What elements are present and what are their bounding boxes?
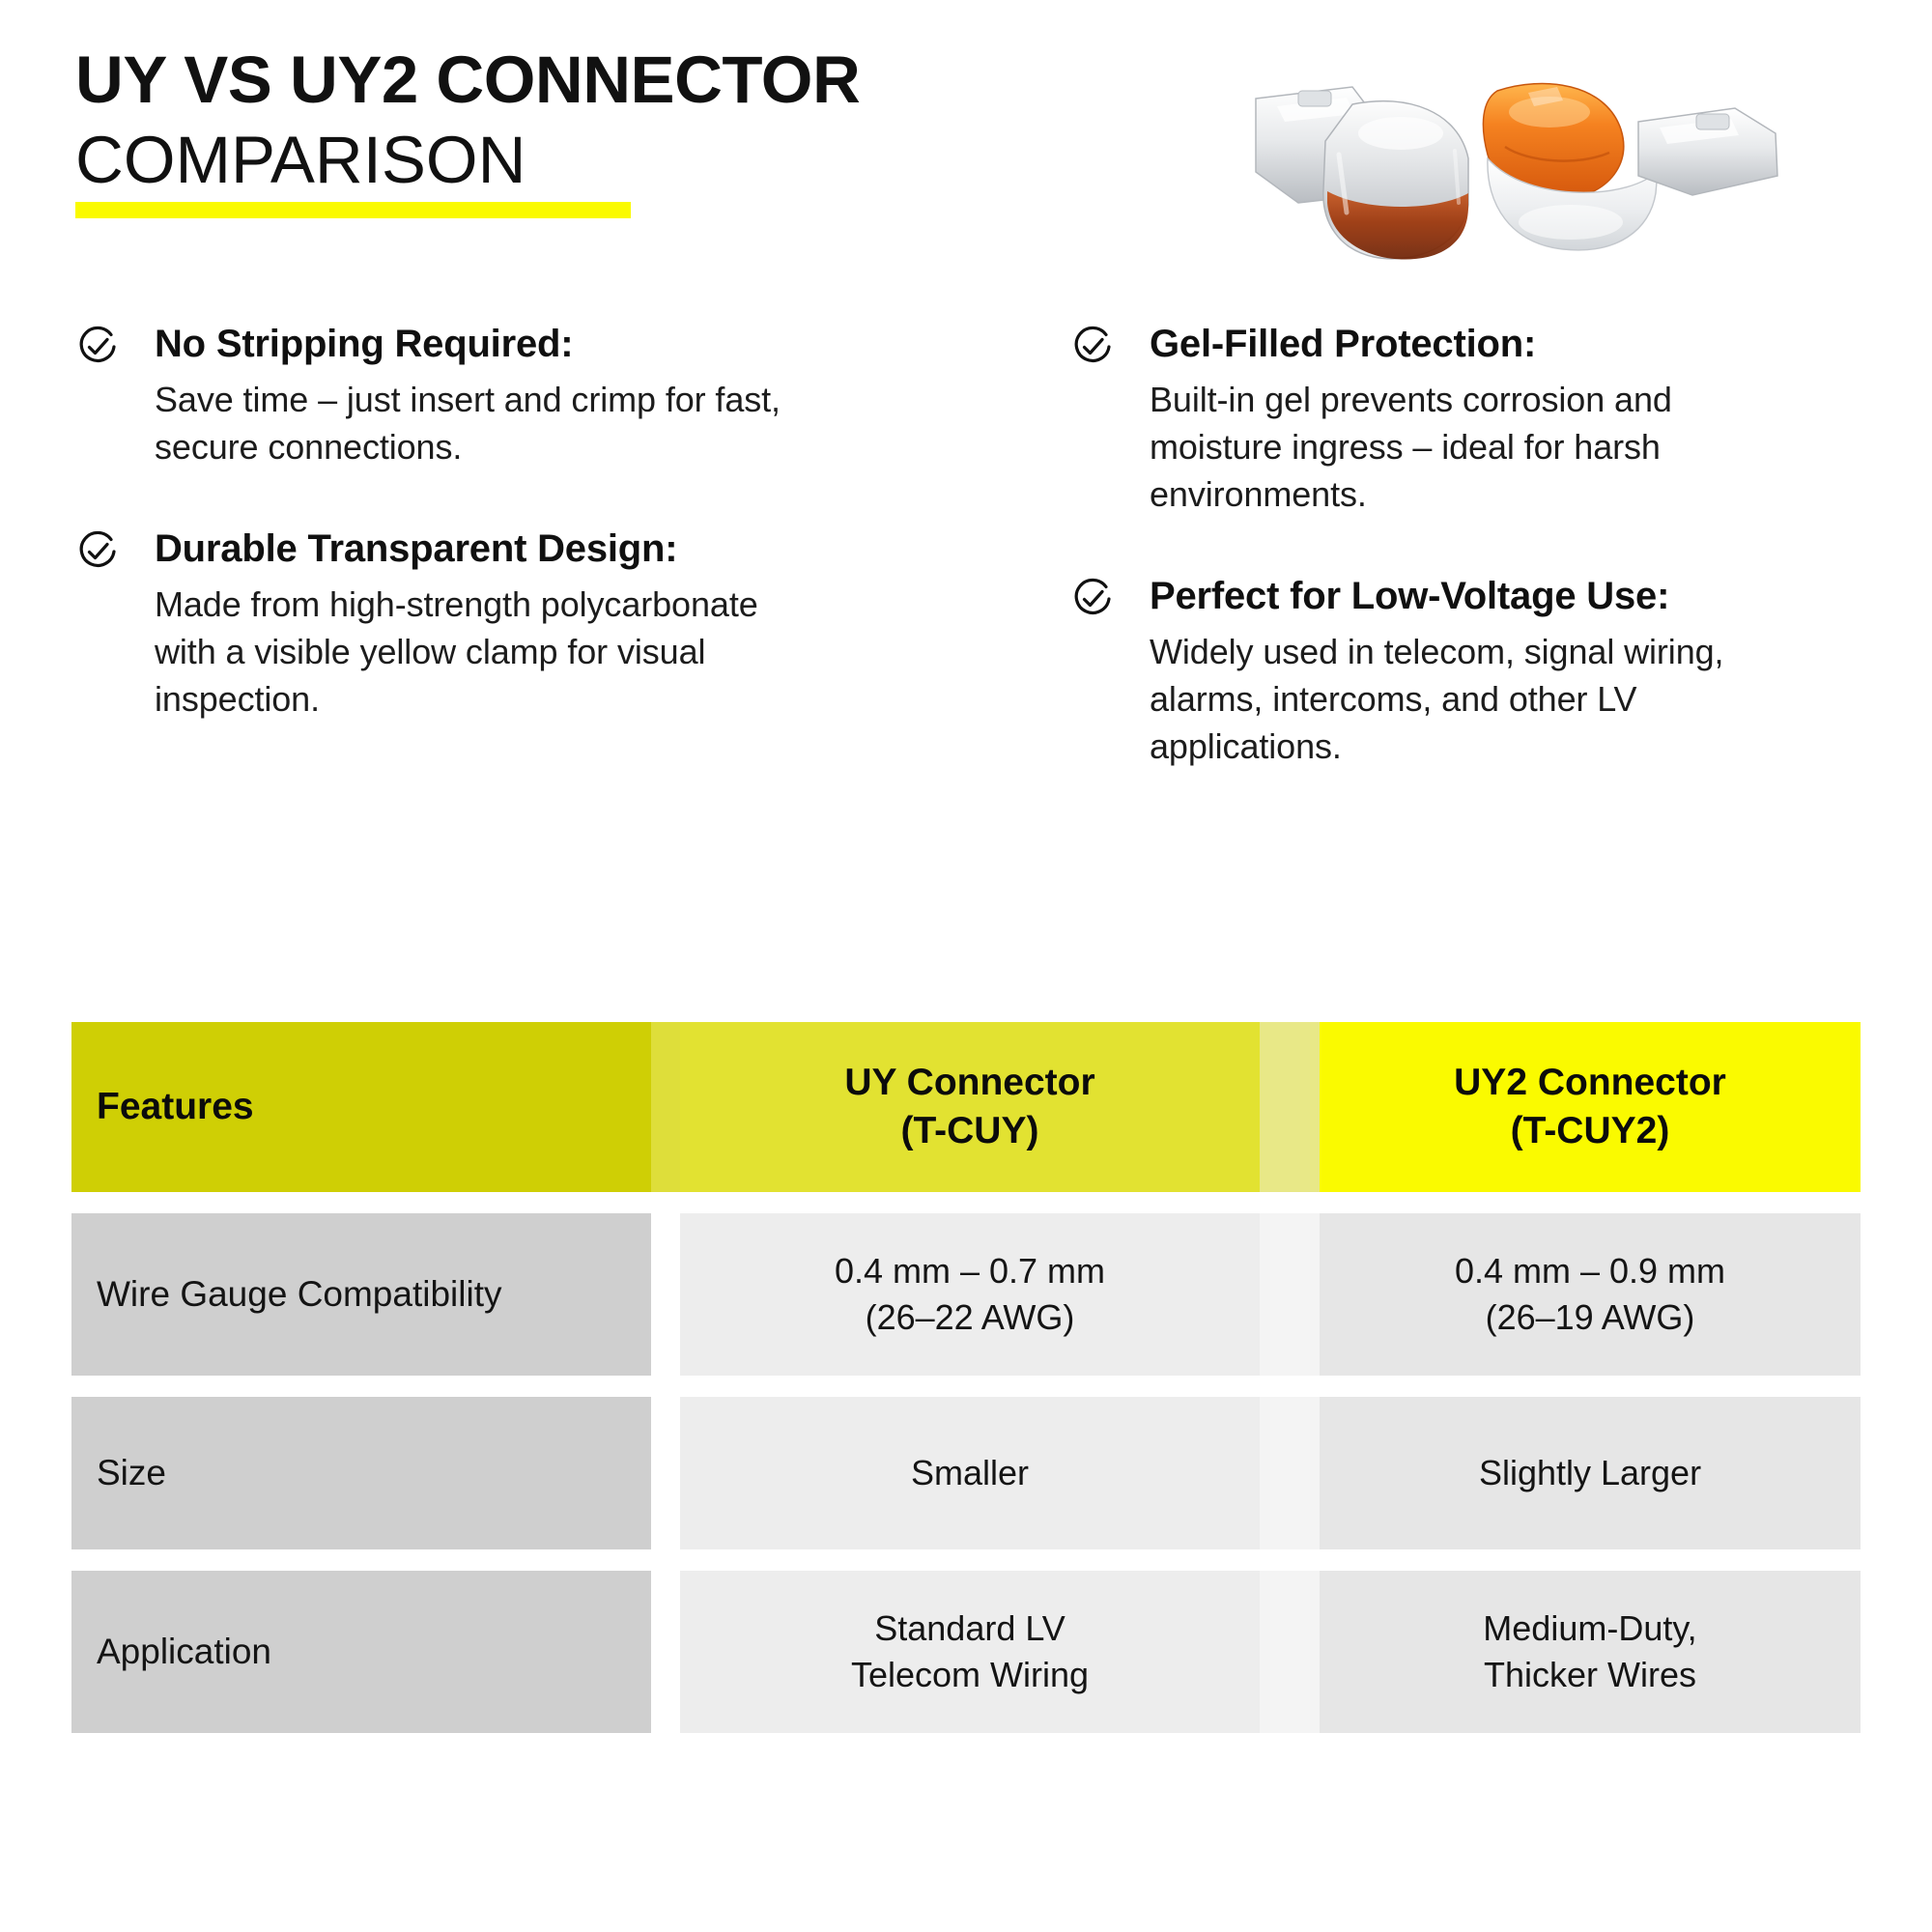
check-circle-icon [1070, 325, 1115, 369]
check-circle-icon [75, 529, 120, 574]
check-circle-icon [1070, 577, 1115, 621]
comparison-table: Features UY Connector(T-CUY) UY2 Connect… [71, 1022, 1861, 1733]
table-row: Size Smaller Slightly Larger [71, 1397, 1861, 1549]
table-gap-2 [1260, 1571, 1320, 1733]
table-gap-1 [651, 1213, 680, 1376]
check-circle-icon [75, 325, 120, 369]
infographic-page: UY VS UY2 CONNECTOR COMPARISON [0, 0, 1932, 1932]
table-cell-feature: Application [71, 1571, 651, 1733]
table-cell-feature-text: Application [97, 1629, 271, 1675]
table-gap-2 [1260, 1213, 1320, 1376]
table-header-uy-label: UY Connector(T-CUY) [844, 1059, 1094, 1155]
connectors-illustration [1238, 58, 1876, 299]
table-cell-uy: Smaller [680, 1397, 1260, 1549]
feature-item: Gel-Filled Protection: Built-in gel prev… [1070, 319, 1804, 519]
table-header-features: Features [71, 1022, 651, 1192]
table-cell-uy: Standard LVTelecom Wiring [680, 1571, 1260, 1733]
feature-item: No Stripping Required: Save time – just … [75, 319, 810, 471]
table-header-uy2: UY2 Connector(T-CUY2) [1320, 1022, 1861, 1192]
table-cell-feature: Wire Gauge Compatibility [71, 1213, 651, 1376]
title-accent-underline [75, 202, 631, 218]
table-header-uy: UY Connector(T-CUY) [680, 1022, 1260, 1192]
table-cell-feature-text: Size [97, 1450, 166, 1496]
uy-connector-photo [1256, 87, 1468, 260]
table-cell-uy-text: 0.4 mm – 0.7 mm(26–22 AWG) [835, 1248, 1105, 1340]
table-cell-feature: Size [71, 1397, 651, 1549]
feature-heading: Perfect for Low-Voltage Use: [1150, 571, 1804, 621]
table-cell-uy-text: Standard LVTelecom Wiring [851, 1605, 1089, 1697]
table-cell-uy-text: Smaller [911, 1450, 1029, 1496]
table-header-gap-1 [651, 1022, 680, 1192]
table-row: Application Standard LVTelecom Wiring Me… [71, 1571, 1861, 1733]
table-cell-feature-text: Wire Gauge Compatibility [97, 1271, 501, 1318]
features-column-right: Gel-Filled Protection: Built-in gel prev… [1070, 319, 1804, 823]
feature-heading: Durable Transparent Design: [155, 524, 810, 574]
feature-body: Made from high-strength polycarbonate wi… [155, 582, 810, 724]
feature-heading: No Stripping Required: [155, 319, 810, 369]
uy2-connector-photo [1483, 84, 1777, 250]
table-header-uy2-label: UY2 Connector(T-CUY2) [1454, 1059, 1726, 1155]
feature-body: Widely used in telecom, signal wiring, a… [1150, 629, 1804, 771]
table-cell-uy2: Medium-Duty,Thicker Wires [1320, 1571, 1861, 1733]
table-cell-uy2-text: Slightly Larger [1479, 1450, 1701, 1496]
table-header-row: Features UY Connector(T-CUY) UY2 Connect… [71, 1022, 1861, 1192]
feature-item: Durable Transparent Design: Made from hi… [75, 524, 810, 724]
table-cell-uy2-text: Medium-Duty,Thicker Wires [1483, 1605, 1696, 1697]
features-column-left: No Stripping Required: Save time – just … [75, 319, 810, 776]
table-row: Wire Gauge Compatibility 0.4 mm – 0.7 mm… [71, 1213, 1861, 1376]
product-photo [1238, 58, 1876, 299]
page-title-primary: UY VS UY2 CONNECTOR [75, 46, 1157, 114]
table-header-features-label: Features [97, 1086, 254, 1128]
table-cell-uy2: Slightly Larger [1320, 1397, 1861, 1549]
table-gap-1 [651, 1397, 680, 1549]
page-header: UY VS UY2 CONNECTOR COMPARISON [75, 46, 1157, 218]
table-cell-uy2: 0.4 mm – 0.9 mm(26–19 AWG) [1320, 1213, 1861, 1376]
feature-body: Save time – just insert and crimp for fa… [155, 377, 810, 471]
feature-item: Perfect for Low-Voltage Use: Widely used… [1070, 571, 1804, 771]
table-header-gap-2 [1260, 1022, 1320, 1192]
table-cell-uy2-text: 0.4 mm – 0.9 mm(26–19 AWG) [1455, 1248, 1725, 1340]
table-gap-1 [651, 1571, 680, 1733]
feature-heading: Gel-Filled Protection: [1150, 319, 1804, 369]
page-title-secondary: COMPARISON [75, 126, 1157, 195]
table-cell-uy: 0.4 mm – 0.7 mm(26–22 AWG) [680, 1213, 1260, 1376]
table-gap-2 [1260, 1397, 1320, 1549]
feature-body: Built-in gel prevents corrosion and mois… [1150, 377, 1804, 519]
